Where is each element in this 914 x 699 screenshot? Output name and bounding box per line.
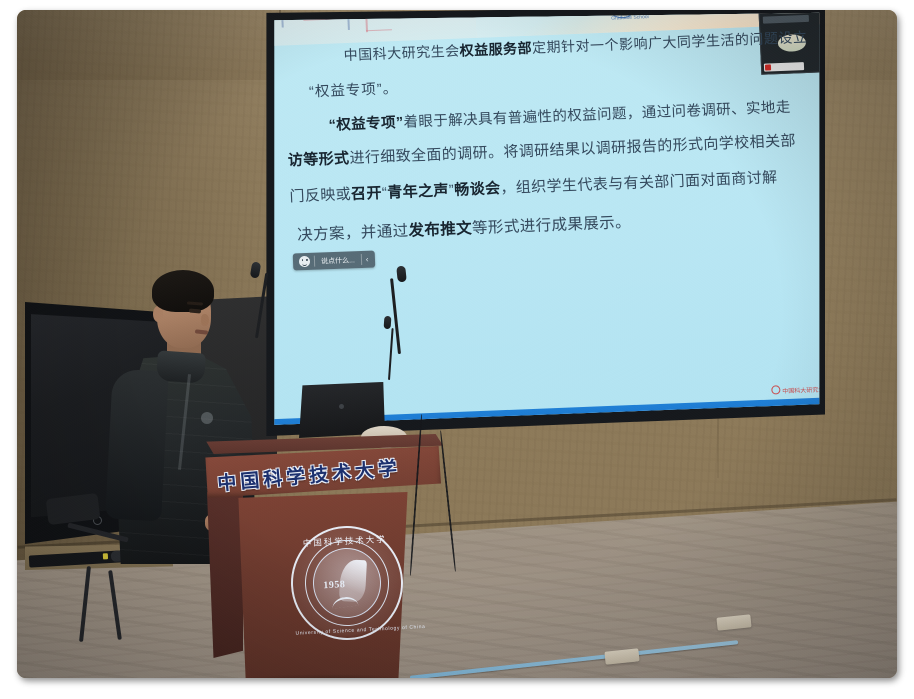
projection-screen: 回收站 此电脑 文档 微信 xyxy=(255,10,825,436)
rail-marker-icon xyxy=(103,553,108,559)
slide-text-run: 决方案，并通过 xyxy=(297,223,409,244)
slide-text-run: 进行细致全面的调研。将调研结果以调研报告的形式向学校相关部 xyxy=(349,132,796,167)
slide-text-run: “权益专项”。 xyxy=(308,81,398,100)
slide-content-plane: 回收站 此电脑 文档 微信 xyxy=(255,10,825,436)
slide-line-5: 门反映或召开“青年之声”畅谈会，组织学生代表与有关部门面对面商讨解 xyxy=(289,166,778,206)
smiley-face-icon[interactable] xyxy=(299,256,310,267)
microphone-head-podium xyxy=(384,316,392,329)
presenter-left-arm xyxy=(105,369,169,522)
lectern-side-panel xyxy=(207,478,243,658)
seal-founding-year: 1958 xyxy=(323,579,346,591)
slide-text-run: 召开 xyxy=(350,185,382,203)
presenter-hair xyxy=(152,270,214,312)
presenter-collar xyxy=(156,350,206,383)
microphone-head-right xyxy=(396,266,407,283)
slide-line-3: “权益专项”着眼于解决具有普遍性的权益问题，通过问卷调研、实地走 xyxy=(328,95,791,134)
laptop-logo-icon xyxy=(339,404,344,409)
slide-text-run: “权益专项” xyxy=(328,115,404,134)
slide-text-run: 畅谈会 xyxy=(453,180,500,199)
slide-line-6: 决方案，并通过发布推文等形式进行成果展示。 xyxy=(296,210,631,245)
slide-text-run: 着眼于解决具有普遍性的权益问题，通过问卷调研、实地走 xyxy=(403,99,791,130)
watermark-logo-icon xyxy=(771,385,780,394)
screen-surface: 回收站 此电脑 文档 微信 xyxy=(255,10,825,436)
slide-line-2: “权益专项”。 xyxy=(308,77,398,101)
watermark-text: 中国科大研究生会 xyxy=(782,387,825,395)
chevron-left-icon[interactable]: ‹ xyxy=(362,255,373,264)
presenter-nose xyxy=(201,314,209,326)
slide-text-run: ，组织学生代表与有关部门面对面商讨解 xyxy=(500,169,778,197)
slide-line-4: 访等形式进行细致全面的调研。将调研结果以调研报告的形式向学校相关部 xyxy=(287,129,796,170)
presenter-jacket-logo xyxy=(201,412,213,424)
slide-text-run: 权益服务部 xyxy=(459,40,532,59)
photo-frame: 回收站 此电脑 文档 微信 xyxy=(0,0,914,699)
slide-text-run: 门反映或 xyxy=(289,186,351,205)
slide-text-run: 中国科大研究生会 xyxy=(343,42,460,63)
slide-watermark: 中国科大研究生会 xyxy=(771,383,825,395)
lectern-shadow xyxy=(223,674,433,678)
slide-text-run: 青年之声 xyxy=(387,182,449,201)
slide-text-run: 等形式进行成果展示。 xyxy=(471,214,631,237)
video-tile-titlebar xyxy=(762,15,808,24)
slide-text-run: 发布推文 xyxy=(408,220,472,239)
slide-text-body: 中国科大研究生会权益服务部定期针对一个影响广大同学生活的问题设立 “权益专项”。… xyxy=(255,23,825,346)
photograph: 回收站 此电脑 文档 微信 xyxy=(17,10,897,678)
comment-input-widget[interactable]: 说点什么... ‹ xyxy=(293,251,375,271)
comment-input-placeholder[interactable]: 说点什么... xyxy=(315,255,361,267)
slide-text-run: 访等形式 xyxy=(287,150,349,169)
